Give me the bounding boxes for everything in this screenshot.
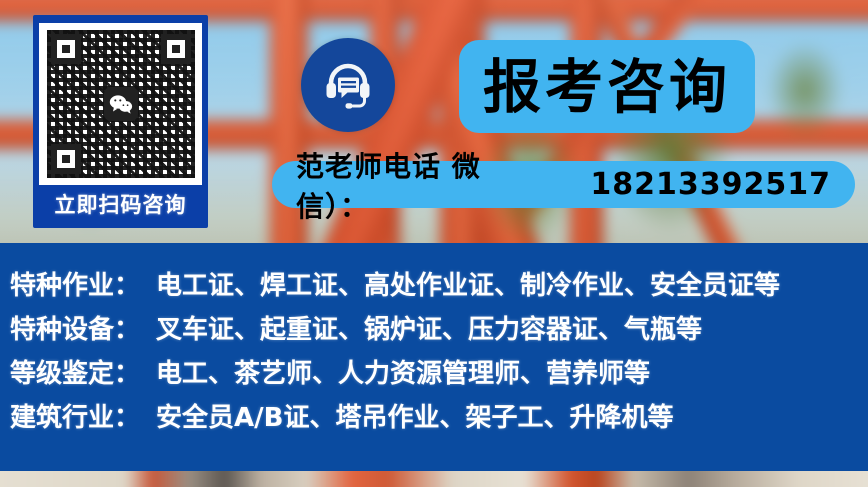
headset-support-badge	[301, 38, 395, 132]
contact-phone-number[interactable]: 18213392517	[590, 167, 831, 202]
category-items: 叉车证、起重证、锅炉证、压力容器证、气瓶等	[156, 309, 702, 346]
qr-finder-top-right	[161, 34, 191, 64]
bottom-photo-strip	[0, 471, 868, 487]
category-name: 特种设备：	[10, 309, 140, 346]
qr-finder-bottom-left	[51, 144, 81, 174]
headset-support-icon	[319, 56, 377, 114]
category-items: 电工、茶艺师、人力资源管理师、营养师等	[156, 353, 650, 390]
qr-code-panel[interactable]: 立即扫码咨询	[33, 15, 208, 228]
category-name: 特种作业：	[10, 265, 140, 302]
wechat-qr-code-icon[interactable]	[47, 30, 195, 178]
qr-panel-caption: 立即扫码咨询	[55, 185, 187, 225]
category-row: 特种设备： 叉车证、起重证、锅炉证、压力容器证、气瓶等	[10, 309, 868, 353]
category-row: 等级鉴定： 电工、茶艺师、人力资源管理师、营养师等	[10, 353, 868, 397]
bottom-photo-strip-image	[0, 471, 868, 487]
contact-label: 范老师电话 微信）：	[296, 145, 530, 225]
category-name: 等级鉴定：	[10, 353, 140, 390]
promotional-poster: 立即扫码咨询 报考咨询 范老师电话 微信）： 18213392517	[0, 0, 868, 487]
category-name: 建筑行业：	[10, 397, 140, 434]
category-items: 电工证、焊工证、高处作业证、制冷作业、安全员证等	[156, 265, 780, 302]
categories-panel: 特种作业： 电工证、焊工证、高处作业证、制冷作业、安全员证等 特种设备： 叉车证…	[0, 243, 868, 471]
qr-code-frame	[39, 23, 202, 185]
title-banner: 报考咨询	[459, 40, 755, 133]
qr-finder-top-left	[51, 34, 81, 64]
wechat-icon	[104, 87, 138, 121]
title-banner-text: 报考咨询	[483, 58, 731, 116]
category-row: 特种作业： 电工证、焊工证、高处作业证、制冷作业、安全员证等	[10, 265, 868, 309]
contact-bar[interactable]: 范老师电话 微信）： 18213392517	[272, 161, 855, 208]
category-row: 建筑行业： 安全员A/B证、塔吊作业、架子工、升降机等	[10, 397, 868, 441]
category-items: 安全员A/B证、塔吊作业、架子工、升降机等	[156, 397, 673, 434]
